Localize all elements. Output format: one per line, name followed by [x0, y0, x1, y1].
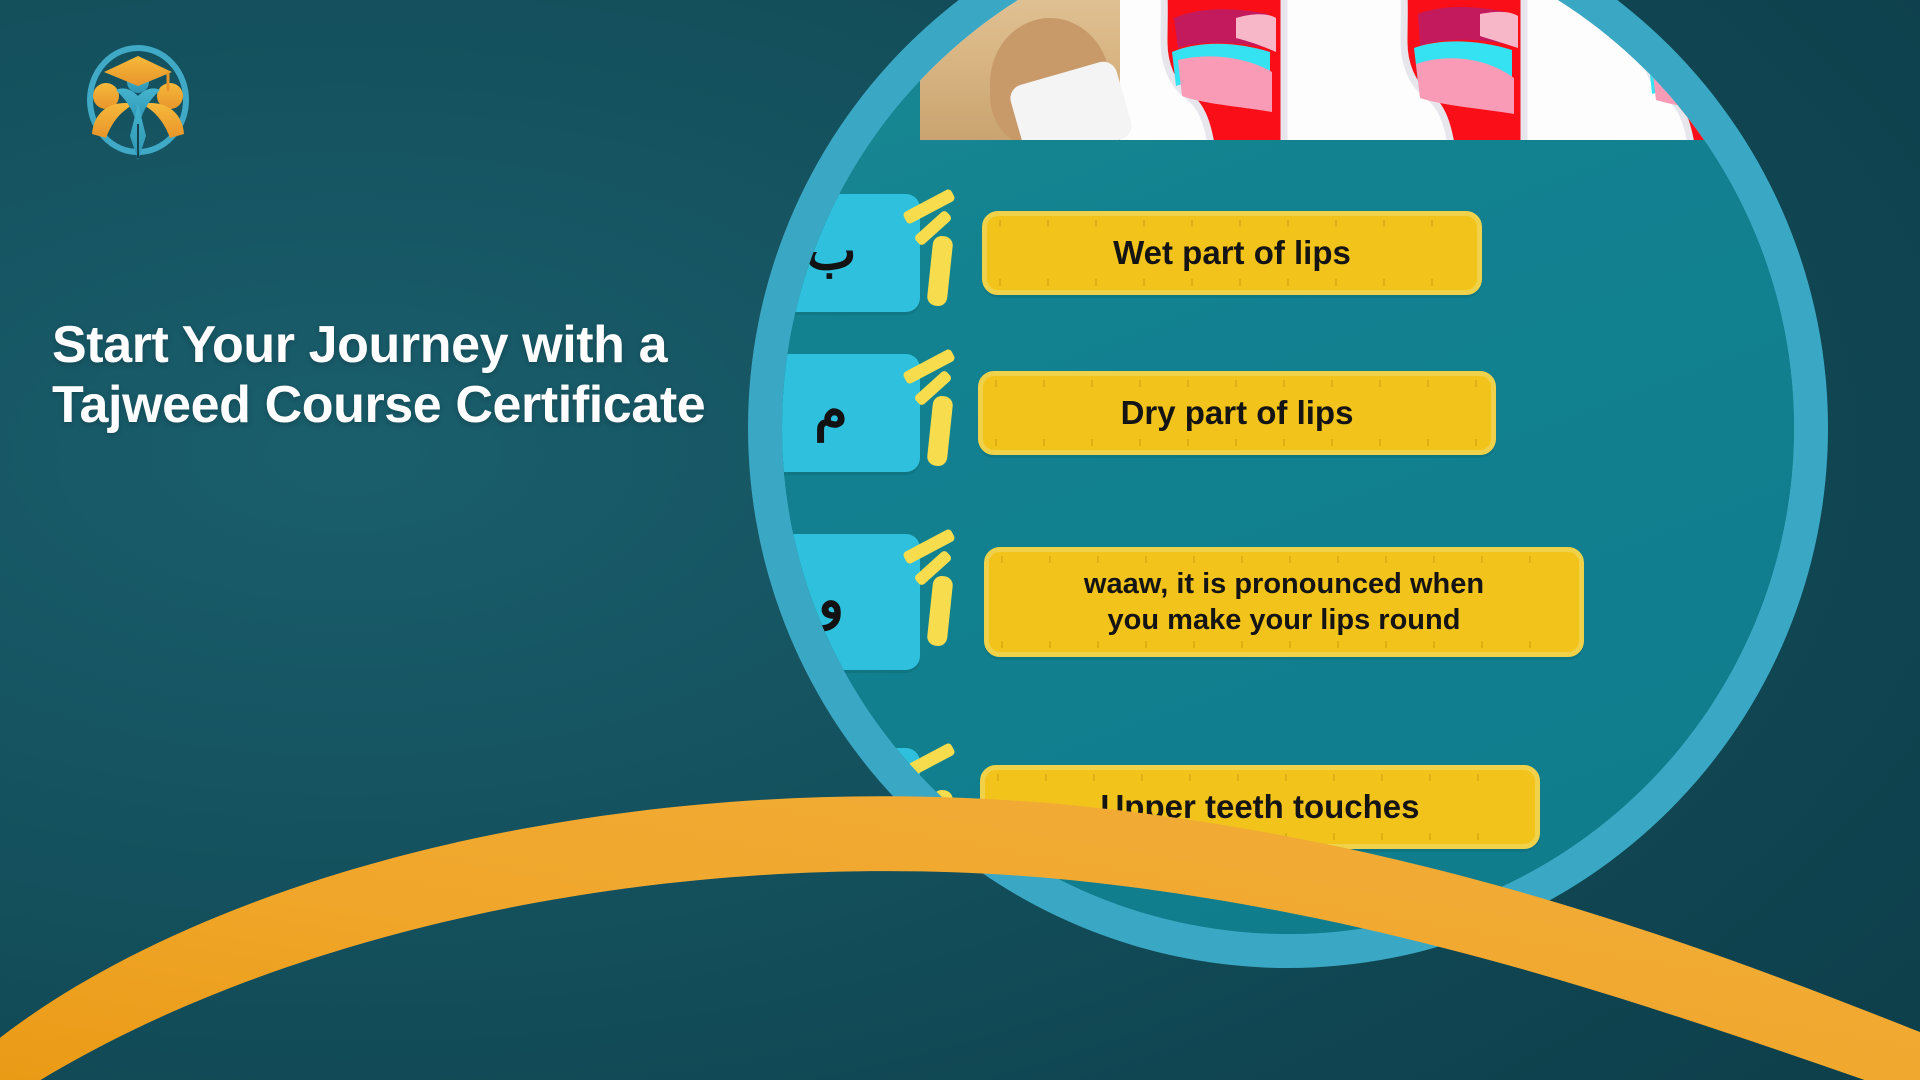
promo-banner: Start Your Journey with a Tajweed Course… — [0, 0, 1920, 1080]
letter-card[interactable]: و — [782, 534, 920, 670]
arabic-letter: ب — [806, 224, 857, 278]
label-tick-decoration — [997, 774, 1523, 781]
definition-label: Upper teeth touches — [980, 765, 1540, 848]
sparkle-icon — [926, 235, 953, 307]
arabic-letter: و — [818, 573, 844, 627]
graduation-people-pen-logo-icon — [72, 38, 204, 170]
headline-line-1: Start Your Journey with a — [52, 316, 667, 374]
brand-logo[interactable] — [72, 38, 204, 170]
letter-card[interactable]: ف — [782, 748, 920, 866]
mouth-cross-section-diagram-icon — [1356, 0, 1538, 140]
lesson-row[interactable]: ف Upper teeth touches — [782, 748, 1540, 866]
arabic-letter: م — [814, 384, 847, 438]
sparkle-icon — [926, 575, 953, 647]
definition-text: Dry part of lips — [1121, 394, 1354, 431]
circle-inner-clip: ب Wet part of lips — [782, 0, 1794, 934]
label-tick-decoration — [999, 220, 1465, 227]
arabic-letter: ف — [803, 778, 859, 832]
mouth-diagram-strip — [920, 0, 1794, 140]
lesson-row[interactable]: ب Wet part of lips — [782, 194, 1482, 312]
lesson-row[interactable]: و waaw, it is pronounced when you make y… — [782, 534, 1584, 670]
mouth-cross-section-diagram-icon — [1116, 0, 1298, 140]
label-tick-decoration — [999, 279, 1465, 286]
definition-text: Wet part of lips — [1113, 234, 1351, 271]
circular-media-stage: ب Wet part of lips — [748, 0, 1828, 968]
definition-text: Upper teeth touches — [1100, 788, 1419, 825]
headline-line-2: Tajweed Course Certificate — [52, 375, 752, 435]
lesson-rows: ب Wet part of lips — [782, 0, 1794, 934]
sparkle-icon — [926, 789, 953, 861]
label-tick-decoration — [1001, 641, 1567, 648]
lesson-screenshot: ب Wet part of lips — [782, 0, 1794, 934]
letter-card[interactable]: ب — [782, 194, 920, 312]
mouth-cross-section-diagram-icon — [1596, 0, 1778, 140]
letter-card[interactable]: م — [782, 354, 920, 472]
label-tick-decoration — [995, 439, 1479, 446]
sparkle-icon — [902, 742, 956, 779]
lesson-row[interactable]: م Dry part of lips — [782, 354, 1496, 472]
label-tick-decoration — [1001, 556, 1567, 563]
label-tick-decoration — [997, 833, 1523, 840]
definition-label: waaw, it is pronounced when you make you… — [984, 547, 1584, 658]
definition-text-line-1: waaw, it is pronounced when — [1084, 568, 1484, 600]
definition-label: Wet part of lips — [982, 211, 1482, 294]
label-tick-decoration — [995, 380, 1479, 387]
definition-text-line-2: you make your lips round — [1108, 604, 1461, 636]
sparkle-icon — [926, 395, 953, 467]
page-title: Start Your Journey with a Tajweed Course… — [52, 315, 752, 436]
definition-label: Dry part of lips — [978, 371, 1496, 454]
